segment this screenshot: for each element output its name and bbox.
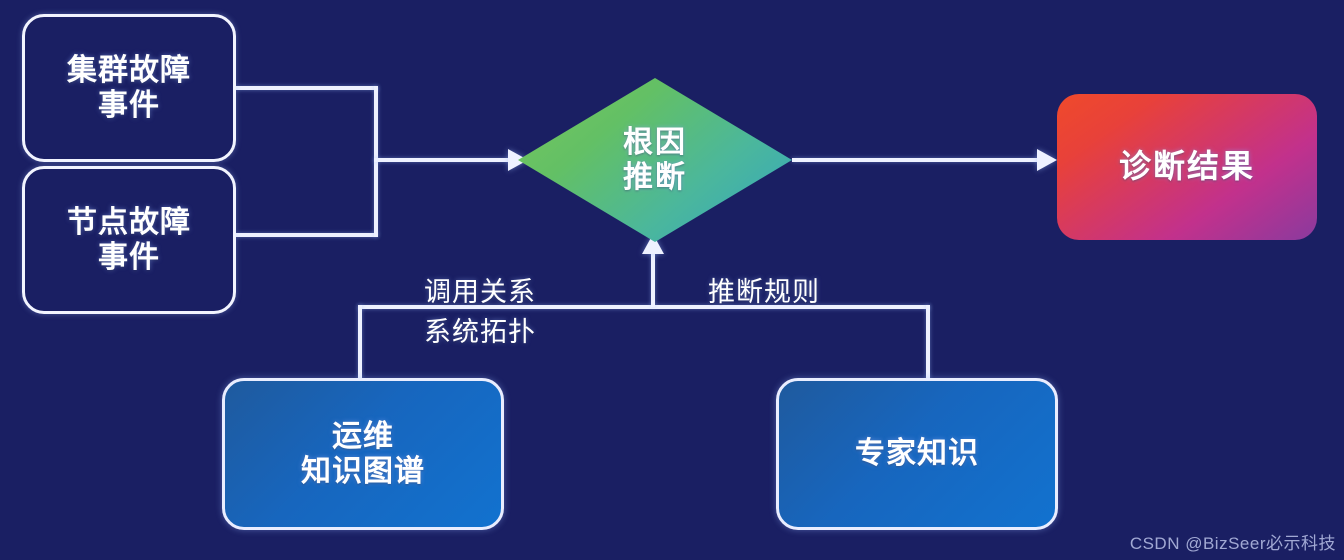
arrowhead-root-cause-to-result-icon: [1037, 149, 1057, 171]
watermark: CSDN @BizSeer必示科技: [1130, 529, 1336, 554]
node-node-fault-event-label: 节点故障 事件: [67, 205, 191, 276]
node-ops-knowledge-graph[interactable]: 运维 知识图谱: [222, 378, 504, 530]
node-cluster-fault-event-label: 集群故障 事件: [67, 53, 191, 124]
node-cluster-fault-event[interactable]: 集群故障 事件: [22, 14, 236, 162]
connector-cluster-event-stub: [236, 86, 378, 90]
connector-root-cause-to-result: [792, 158, 1042, 162]
diamond-shape: [518, 78, 792, 242]
node-diagnosis-result[interactable]: 诊断结果: [1057, 94, 1317, 240]
connector-expert-knowledge-riser: [926, 305, 930, 380]
connector-knowledge-to-root-cause: [651, 252, 655, 307]
node-root-cause-inference[interactable]: 根因 推断: [518, 78, 792, 242]
edge-label-inference-rule: 推断规则: [708, 270, 820, 309]
edge-label-call-relation: 调用关系: [424, 270, 536, 309]
node-node-fault-event[interactable]: 节点故障 事件: [22, 166, 236, 314]
connector-knowledge-graph-riser: [358, 305, 362, 380]
connector-node-event-stub: [236, 233, 378, 237]
edge-label-system-topology: 系统拓扑: [424, 310, 536, 349]
node-ops-knowledge-graph-label: 运维 知识图谱: [301, 419, 425, 490]
diagram-canvas: 集群故障 事件 节点故障 事件 根因 推断 诊断结果 运维 知识图谱 专家知识 …: [0, 0, 1344, 560]
connector-events-to-root-cause: [374, 158, 520, 162]
node-expert-knowledge[interactable]: 专家知识: [776, 378, 1058, 530]
connector-bottom-bracket-horizontal: [358, 305, 930, 309]
node-expert-knowledge-label: 专家知识: [855, 436, 979, 471]
node-diagnosis-result-label: 诊断结果: [1119, 148, 1255, 186]
